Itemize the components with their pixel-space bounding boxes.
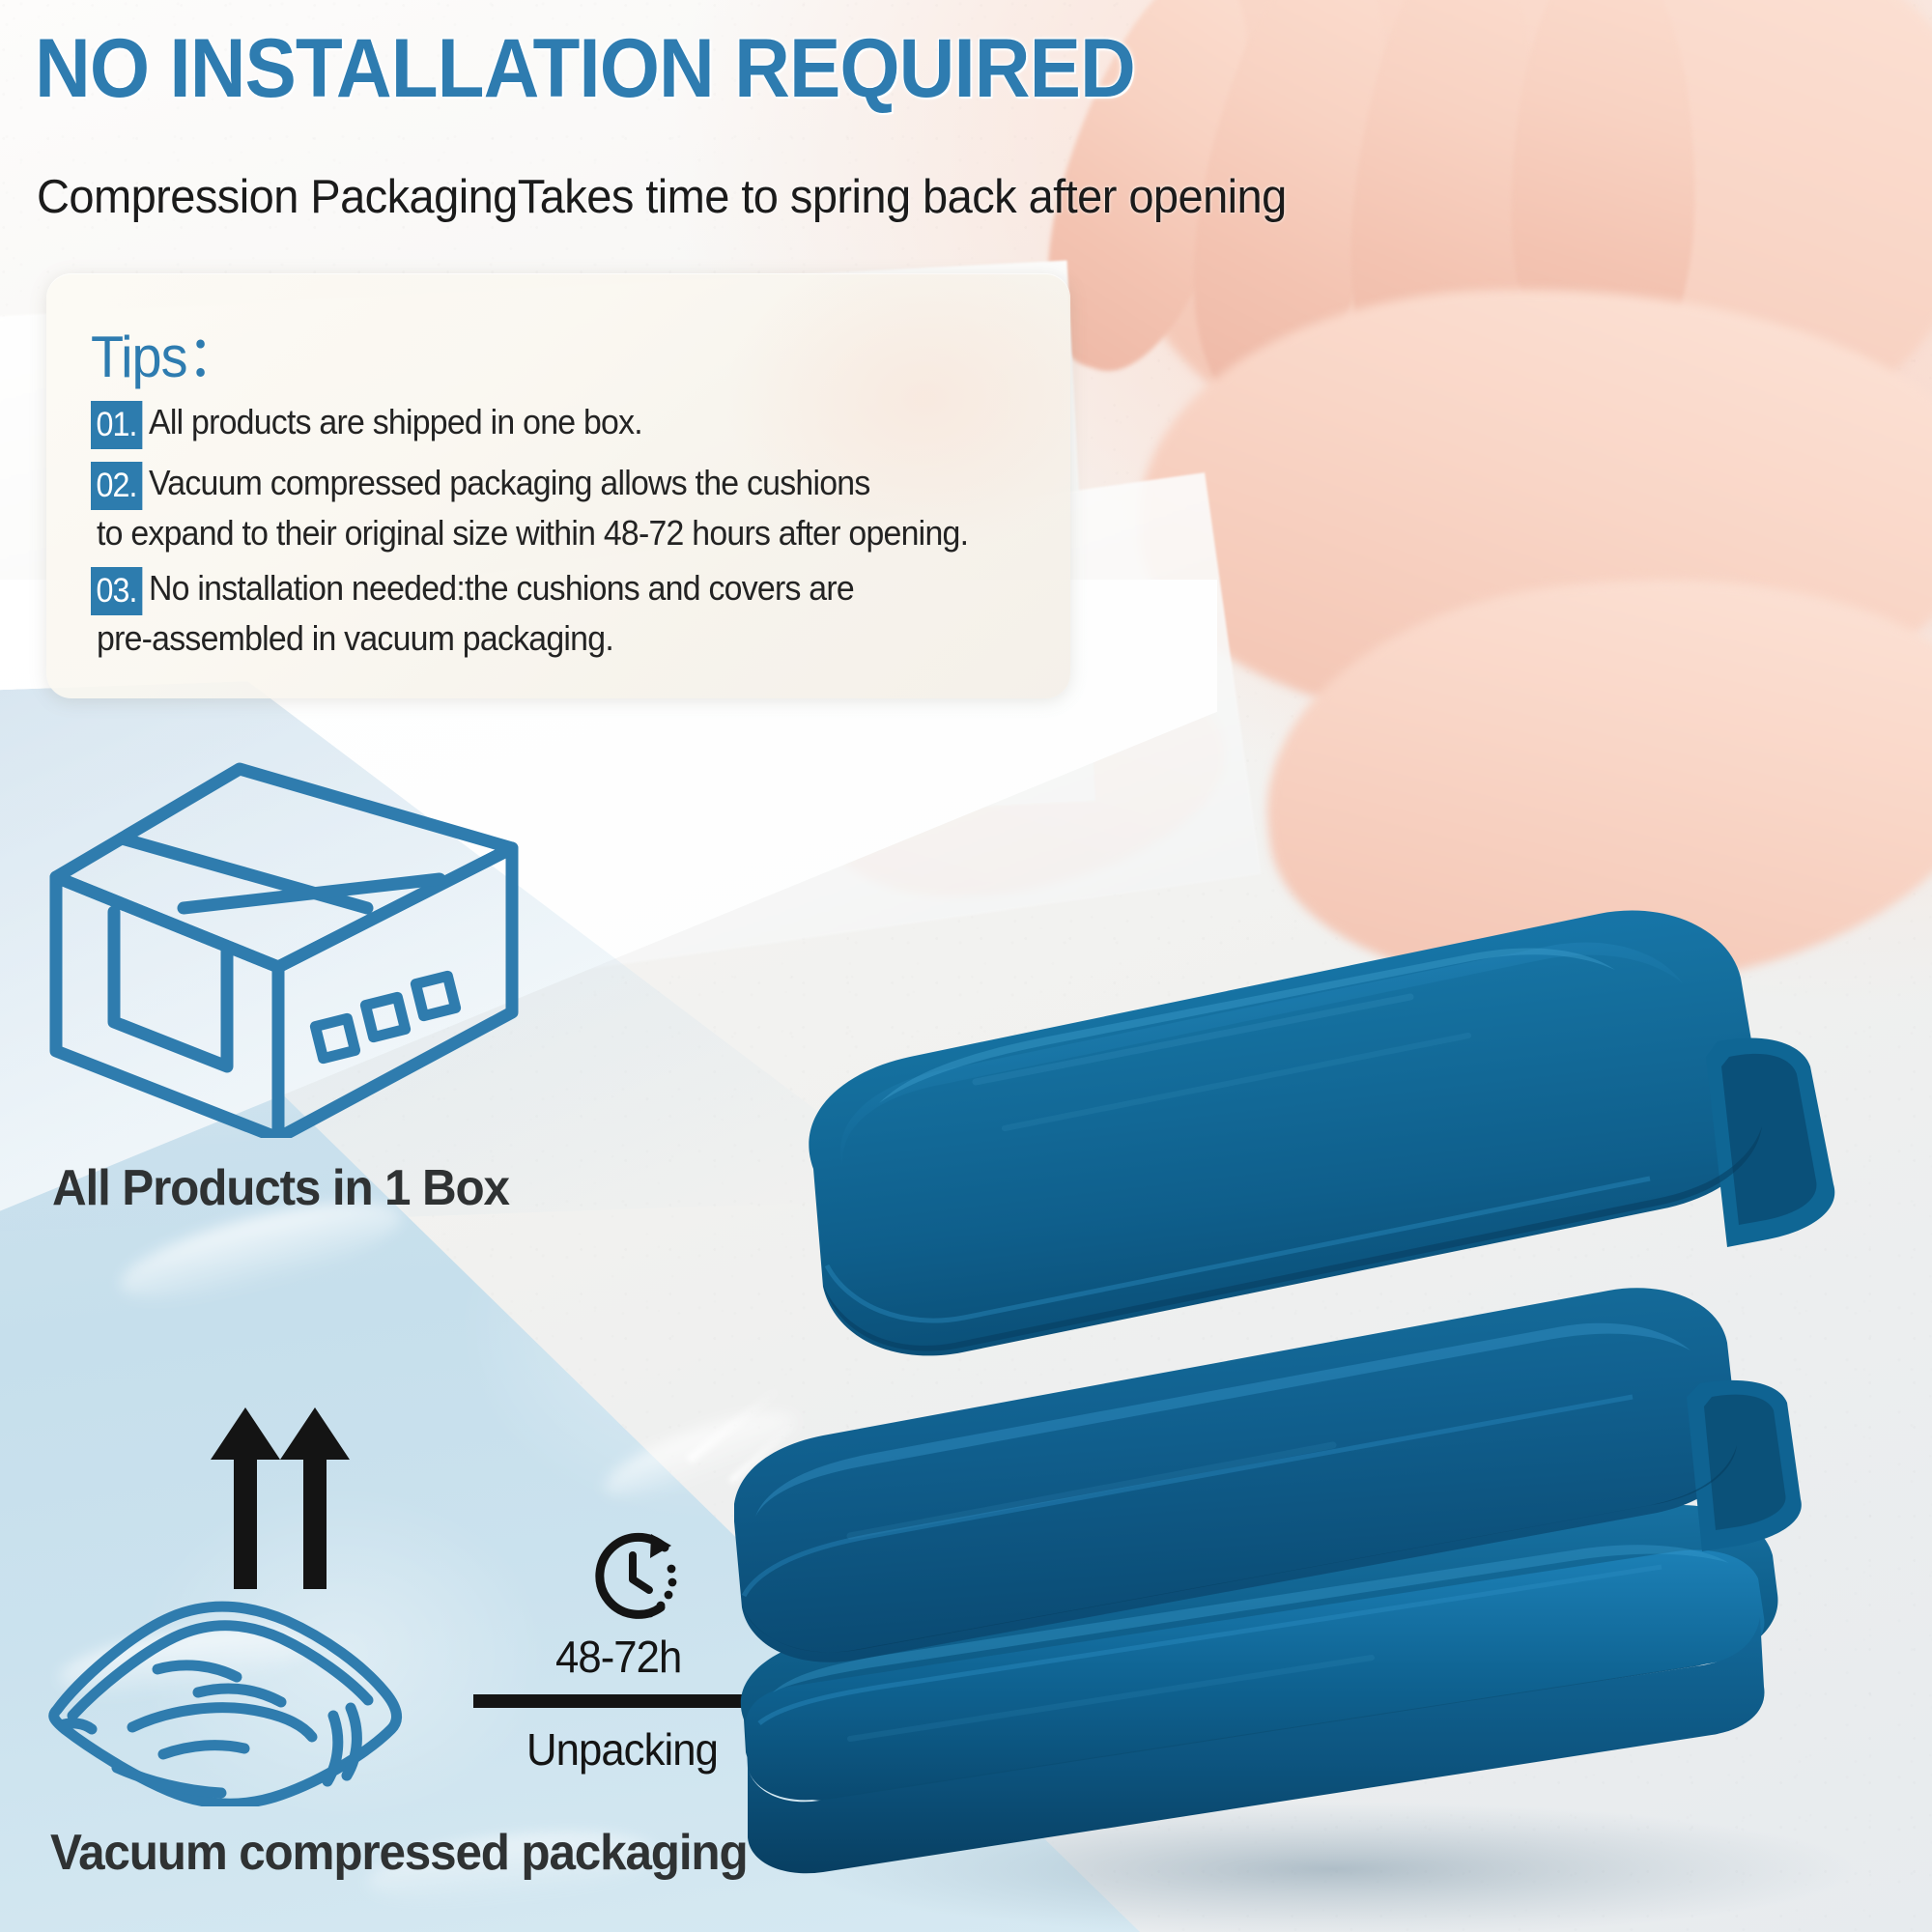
tip-text: Vacuum compressed packaging allows the c… (149, 462, 870, 504)
vacuum-bag-icon (43, 1565, 449, 1806)
tips-card: Tips： 01. All products are shipped in on… (46, 273, 1070, 698)
cushion-stack-photo (734, 667, 1932, 1932)
shipping-box-icon (29, 732, 531, 1138)
tip-badge: 01. (91, 401, 142, 449)
tip-badge: 02. (91, 462, 142, 510)
page-title: NO INSTALLATION REQUIRED (35, 27, 1135, 110)
vacuum-caption: Vacuum compressed packaging (50, 1824, 747, 1882)
duration-label: 48-72h (555, 1631, 681, 1683)
page-subtitle: Compression PackagingTakes time to sprin… (37, 172, 1287, 224)
expand-up-arrows-icon (203, 1406, 357, 1589)
box-caption: All Products in 1 Box (52, 1159, 509, 1217)
tips-list: 01. All products are shipped in one box.… (91, 401, 1037, 672)
tip-text-continued: pre-assembled in vacuum packaging. (97, 617, 981, 660)
unpacking-label: Unpacking (526, 1723, 718, 1776)
list-item: 01. All products are shipped in one box. (91, 401, 1037, 449)
tip-badge: 03. (91, 567, 142, 615)
list-item: 02. Vacuum compressed packaging allows t… (91, 462, 1037, 554)
tip-text: All products are shipped in one box. (149, 401, 642, 443)
list-item: 03. No installation needed:the cushions … (91, 567, 1037, 660)
clock-rotate-icon (580, 1526, 686, 1633)
tip-text: No installation needed:the cushions and … (149, 567, 854, 610)
tips-title: Tips： (91, 310, 240, 394)
infographic-canvas: NO INSTALLATION REQUIRED Compression Pac… (0, 0, 1932, 1932)
tip-text-continued: to expand to their original size within … (97, 512, 981, 554)
